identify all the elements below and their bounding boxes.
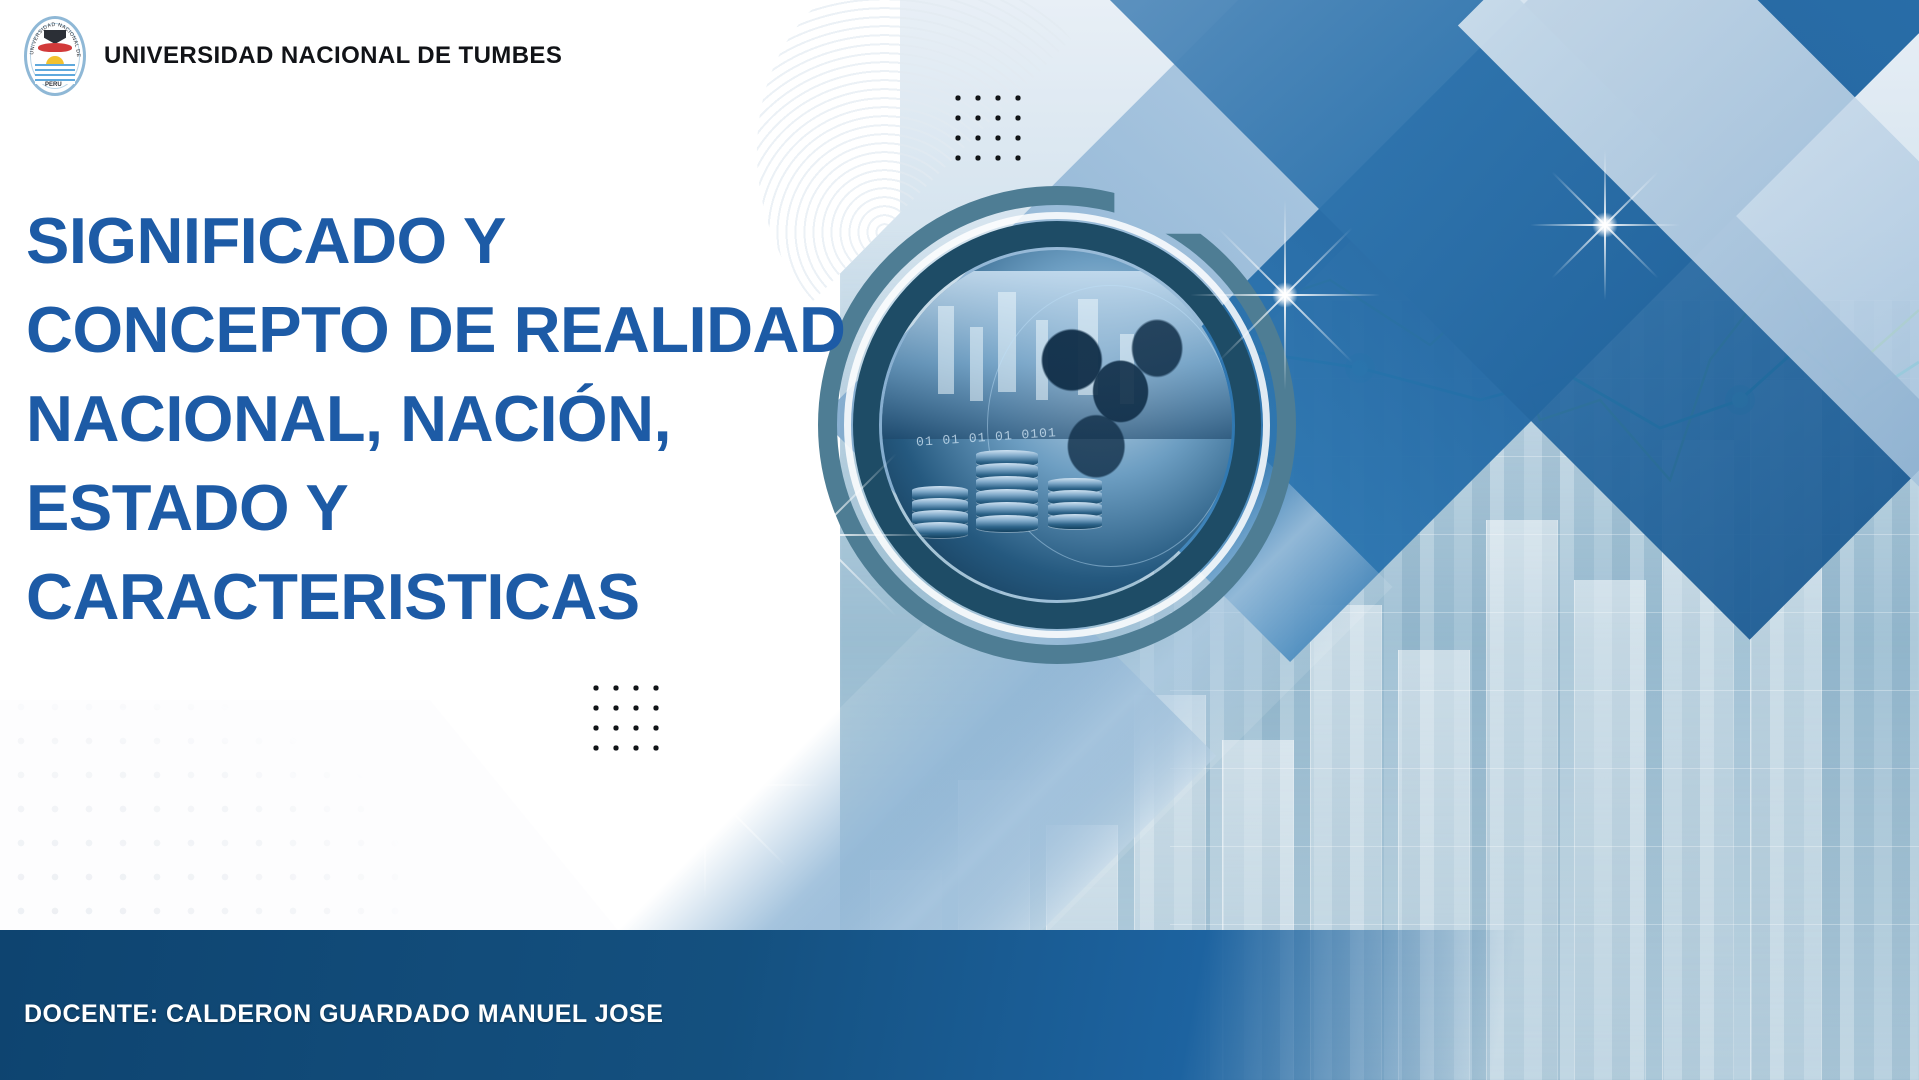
institution-name: UNIVERSIDAD NACIONAL DE TUMBES bbox=[104, 42, 562, 70]
instructor-credit: DOCENTE: CALDERON GUARDADO MANUEL JOSE bbox=[24, 1000, 663, 1029]
magnifier-lens-icon: 01 01 01 01 0101 bbox=[818, 186, 1296, 664]
dot-grid-icon bbox=[948, 88, 1034, 174]
seal-ribbon bbox=[38, 43, 72, 52]
presentation-slide: 01 01 01 01 0101 UNIVERSIDAD NACIONAL DE… bbox=[0, 0, 1919, 1080]
seal-waves-icon bbox=[35, 64, 75, 84]
slide-footer: DOCENTE: CALDERON GUARDADO MANUEL JOSE bbox=[0, 930, 1919, 1080]
title-line: CONCEPTO DE REALIDAD bbox=[26, 285, 856, 374]
title-line: SIGNIFICADO Y bbox=[26, 196, 856, 285]
university-seal-icon: UNIVERSIDAD NACIONAL DE TUMBES PERU bbox=[24, 16, 86, 96]
title-line: CARACTERISTICAS bbox=[26, 552, 856, 641]
slide-header: UNIVERSIDAD NACIONAL DE TUMBES PERU UNIV… bbox=[24, 16, 562, 96]
title-line: ESTADO Y bbox=[26, 463, 856, 552]
lens-glass: 01 01 01 01 0101 bbox=[882, 250, 1232, 600]
title-line: NACIONAL, NACIÓN, bbox=[26, 374, 856, 463]
dot-grid-icon bbox=[586, 678, 672, 764]
page-title: SIGNIFICADO Y CONCEPTO DE REALIDAD NACIO… bbox=[26, 196, 856, 641]
seal-caption: PERU bbox=[45, 82, 62, 88]
